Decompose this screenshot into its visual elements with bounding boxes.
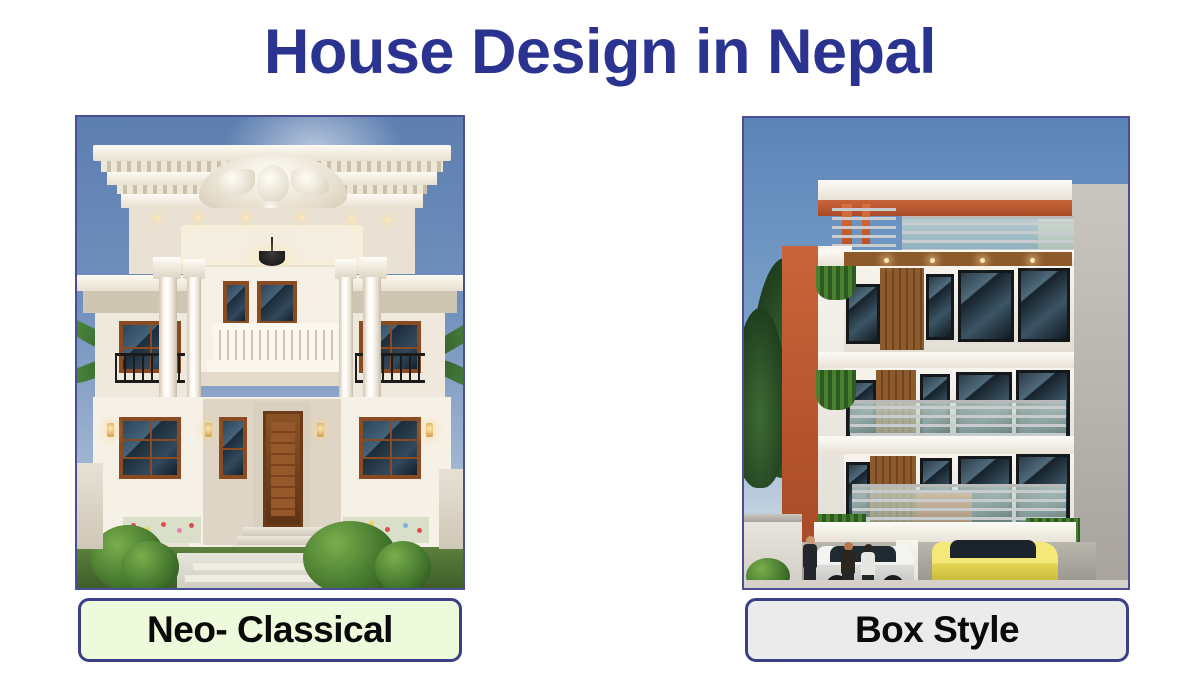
garden-bush <box>375 541 431 590</box>
wall-sconce <box>107 423 114 437</box>
boundary-wall-left <box>77 463 103 549</box>
window-mullion <box>150 421 152 475</box>
garden-bush <box>121 541 179 590</box>
wall-sconce <box>205 423 212 437</box>
label-box-neo-classical[interactable]: Neo- Classical <box>78 598 462 662</box>
facade-terracotta-left <box>782 246 818 546</box>
balcony-base <box>207 360 343 372</box>
ground-window-right <box>359 417 421 479</box>
wall-sconce <box>317 423 324 437</box>
flower <box>403 523 408 528</box>
floor2-steel-railing <box>850 400 1066 436</box>
flower <box>385 527 390 532</box>
page-title: House Design in Nepal <box>0 16 1200 88</box>
column-capital-right-inner <box>335 259 357 279</box>
column-capital-left <box>153 257 181 279</box>
downlight <box>930 258 935 263</box>
person-torso <box>841 550 855 574</box>
floor-slab-2 <box>818 352 1074 368</box>
label-box-box-style[interactable]: Box Style <box>745 598 1129 662</box>
house-image-box-style <box>742 116 1130 590</box>
downlight <box>155 216 160 221</box>
downlight <box>195 215 200 220</box>
floor3-window-right <box>1018 268 1070 342</box>
balcony-balusters <box>213 330 337 360</box>
upper-window-center-left <box>223 281 249 325</box>
hanging-planter <box>816 370 856 410</box>
pediment-medallion <box>257 165 289 203</box>
ground-window-left <box>119 417 181 479</box>
downlight <box>1030 258 1035 263</box>
chandelier-body <box>259 251 285 266</box>
floor3-wood-cladding <box>880 268 924 350</box>
boundary-wall-right <box>439 469 463 549</box>
window-mullion <box>363 457 417 459</box>
roof-slab <box>818 180 1072 200</box>
column-capital-left-inner <box>183 259 205 279</box>
upper-window-center-right <box>257 281 297 325</box>
window-mullion <box>363 439 417 441</box>
foreground-ground <box>744 580 1130 590</box>
downlight <box>299 215 304 220</box>
car-greenhouse <box>950 540 1036 558</box>
floor-slab-1 <box>818 436 1074 454</box>
balcony-slab <box>199 372 351 386</box>
house-image-neo-classical <box>75 115 465 590</box>
floor3-window-wide <box>958 270 1014 342</box>
window-mullion <box>123 439 177 441</box>
downlight <box>243 215 248 220</box>
flower <box>417 528 422 533</box>
person-torso <box>861 552 875 576</box>
downlight <box>884 258 889 263</box>
flower <box>189 523 194 528</box>
front-door <box>263 411 303 527</box>
flower <box>177 528 182 533</box>
downlight <box>385 218 390 223</box>
door-carving <box>271 422 295 516</box>
floor3-window-mid <box>926 274 954 340</box>
ground-window-center <box>219 417 247 479</box>
hanging-planter <box>816 266 856 300</box>
floor1-steel-railing <box>852 484 1066 522</box>
column-capital-right <box>359 257 387 279</box>
label-text-neo-classical: Neo- Classical <box>147 609 393 651</box>
window-mullion <box>223 448 243 450</box>
balcony-cap-rail <box>211 323 339 330</box>
wall-sconce <box>426 423 433 437</box>
downlight <box>349 216 354 221</box>
chandelier <box>257 237 287 271</box>
label-text-box-style: Box Style <box>855 609 1019 651</box>
person-torso <box>803 544 817 568</box>
rooftop-frame <box>832 202 896 250</box>
pediment-scroll-left <box>217 169 255 195</box>
window-glass <box>261 285 293 321</box>
scene-neo-classical <box>77 117 463 588</box>
rooftop-steel-railing <box>902 216 1074 250</box>
soffit-floor3 <box>844 252 1072 266</box>
stilt-ceiling-slab <box>814 522 1076 542</box>
boundary-wall-cap <box>744 514 802 522</box>
entry-step <box>243 527 323 536</box>
window-mullion <box>390 421 392 475</box>
scene-box-style <box>744 118 1128 588</box>
downlight <box>980 258 985 263</box>
window-mullion <box>123 457 177 459</box>
poster-root: House Design in Nepal <box>0 0 1200 700</box>
window-glass <box>227 285 245 321</box>
flower <box>161 522 166 527</box>
